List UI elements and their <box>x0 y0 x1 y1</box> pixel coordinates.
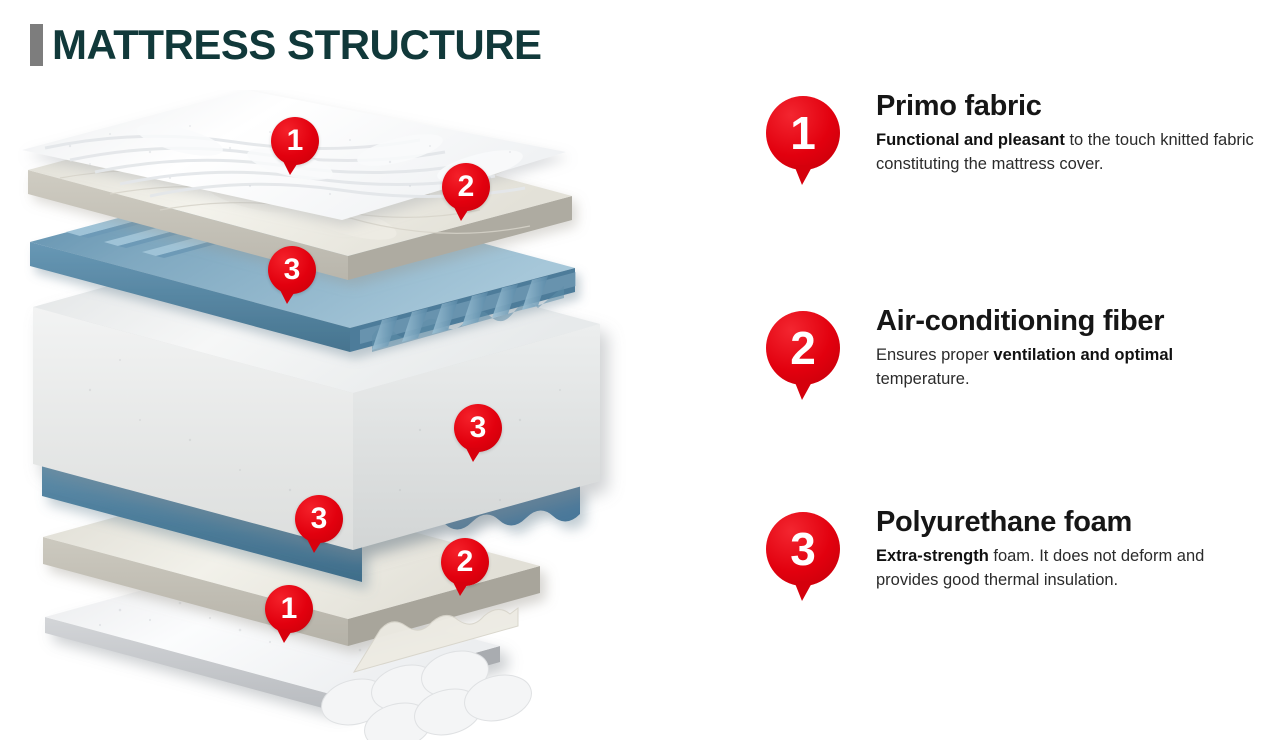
legend-text-1: Primo fabric Functional and pleasant to … <box>876 90 1266 176</box>
title-label: MATTRESS STRUCTURE <box>52 24 542 66</box>
legend-body-1: Functional and pleasant to the touch kni… <box>876 129 1266 176</box>
legend-body-3-bold: Extra-strength <box>876 547 989 565</box>
legend-marker-1[interactable]: 1 <box>766 96 840 170</box>
legend-body-2-rest: temperature. <box>876 370 970 388</box>
legend-body-3: Extra-strength foam. It does not deform … <box>876 545 1266 592</box>
legend-title-1: Primo fabric <box>876 90 1266 122</box>
legend-text-2: Air-conditioning fiber Ensures proper ve… <box>876 305 1266 391</box>
legend-marker-3[interactable]: 3 <box>766 512 840 586</box>
mattress-layers-diagram: 1 2 3 3 3 2 1 <box>0 90 720 740</box>
legend-item-3[interactable]: 3 Polyurethane foam Extra-strength foam.… <box>766 506 1266 592</box>
diagram-marker-2-top[interactable]: 2 <box>442 163 490 211</box>
diagram-marker-2-bottom[interactable]: 2 <box>441 538 489 586</box>
legend-body-2-bold: ventilation and optimal <box>993 346 1173 364</box>
layer-top-quilted-fabric <box>0 90 720 740</box>
legend-text-3: Polyurethane foam Extra-strength foam. I… <box>876 506 1266 592</box>
legend-body-1-bold: Functional and pleasant <box>876 131 1065 149</box>
legend-marker-2[interactable]: 2 <box>766 311 840 385</box>
legend-item-2[interactable]: 2 Air-conditioning fiber Ensures proper … <box>766 305 1266 391</box>
title-accent-bar <box>30 24 43 66</box>
legend-title-2: Air-conditioning fiber <box>876 305 1266 337</box>
diagram-marker-3-bottom-foam[interactable]: 3 <box>295 495 343 543</box>
diagram-marker-1-bottom[interactable]: 1 <box>265 585 313 633</box>
diagram-marker-3-core[interactable]: 3 <box>454 404 502 452</box>
diagram-marker-3-top-foam[interactable]: 3 <box>268 246 316 294</box>
legend-body-2-lead: Ensures proper <box>876 346 993 364</box>
page-title: MATTRESS STRUCTURE <box>30 24 542 66</box>
legend-panel: 1 Primo fabric Functional and pleasant t… <box>766 0 1266 743</box>
legend-body-2: Ensures proper ventilation and optimal t… <box>876 344 1266 391</box>
legend-title-3: Polyurethane foam <box>876 506 1266 538</box>
legend-item-1[interactable]: 1 Primo fabric Functional and pleasant t… <box>766 90 1266 176</box>
diagram-marker-1-top[interactable]: 1 <box>271 117 319 165</box>
